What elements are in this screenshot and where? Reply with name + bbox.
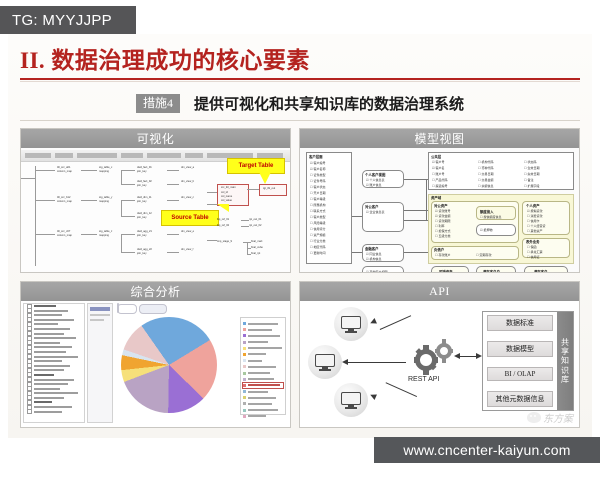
panel-analysis-header: 综合分析	[21, 282, 290, 301]
subtitle-row: 措施4 提供可视化和共享知识库的数据治理系统	[20, 88, 580, 118]
panel-model-view-body: 客户层面 ☑ 客户编号 ☑ 客户名称 ☐ 证件类型 ☐ 证件号码 ☐ 客户状态 …	[300, 148, 579, 272]
rest-api-label: REST API	[408, 376, 439, 383]
api-diagram: REST API 数据标准 数据模型 BI / OLAP 其他元数据信息	[300, 301, 579, 427]
client-node-bottom	[334, 383, 368, 417]
kb-item-data-model[interactable]: 数据模型	[487, 341, 553, 357]
panel-visualization-header: 可视化	[21, 129, 290, 148]
lineage-diagram: tbl_src_a01 column_map tbl_src_b12 colum…	[21, 148, 290, 272]
panel-grid: 可视化	[20, 128, 580, 428]
monitor-icon	[341, 316, 361, 332]
kb-item-bi-olap[interactable]: BI / OLAP	[487, 367, 553, 381]
subtitle-divider	[20, 120, 580, 121]
panel-api: API	[299, 281, 580, 428]
page-title: II. 数据治理成功的核心要素	[20, 41, 310, 75]
panel-api-header: API	[300, 282, 579, 301]
field-list[interactable]	[23, 303, 85, 423]
callout-source-table: Source Table	[161, 210, 219, 226]
slide-root: TG: MYYJJPP II. 数据治理成功的核心要素 措施4 提供可视化和共享…	[0, 0, 600, 480]
knowledge-base-items: 数据标准 数据模型 BI / OLAP 其他元数据信息	[483, 312, 557, 410]
panel-analysis-body	[21, 301, 290, 427]
chart-toolbar[interactable]	[117, 303, 287, 315]
measure-badge: 措施4	[136, 94, 180, 113]
monitor-icon	[341, 392, 361, 408]
client-node-middle	[308, 345, 342, 379]
callout-target-table-label: Target Table	[239, 163, 274, 169]
gears-icon	[406, 337, 458, 375]
wechat-icon	[527, 412, 541, 423]
callout-target-table: Target Table	[227, 158, 285, 174]
target-table-node	[259, 184, 287, 196]
panel-api-body: REST API 数据标准 数据模型 BI / OLAP 其他元数据信息	[300, 301, 579, 427]
field-properties-panel[interactable]	[87, 303, 113, 423]
panel-visualization-body: tbl_src_a01 column_map tbl_src_b12 colum…	[21, 148, 290, 272]
client-node-top	[334, 307, 368, 341]
tg-tag: TG: MYYJJPP	[0, 6, 136, 34]
shared-knowledge-base: 数据标准 数据模型 BI / OLAP 其他元数据信息 共享知识库	[482, 311, 574, 411]
kb-item-data-standard[interactable]: 数据标准	[487, 315, 553, 331]
wechat-watermark-text: 东方案	[543, 410, 573, 425]
subtitle-text: 提供可视化和共享知识库的数据治理系统	[194, 93, 464, 114]
title-divider	[20, 78, 580, 80]
panel-visualization: 可视化	[20, 128, 291, 273]
wechat-watermark: 东方案	[527, 410, 573, 425]
site-watermark: www.cncenter-kaiyun.com	[374, 437, 600, 463]
title-divider-secondary	[20, 81, 580, 82]
panel-analysis: 综合分析	[20, 281, 291, 428]
knowledge-base-side-label: 共享知识库	[557, 312, 573, 410]
slide-body: II. 数据治理成功的核心要素 措施4 提供可视化和共享知识库的数据治理系统 可…	[8, 34, 592, 438]
panel-model-view: 模型视图 客户层面 ☑ 客户编号 ☑ 客户名称 ☐ 证件类型 ☐ 证件号码 ☐ …	[299, 128, 580, 273]
analysis-dashboard	[21, 301, 290, 427]
monitor-icon	[315, 354, 335, 370]
pie-chart	[121, 317, 217, 413]
model-diagram: 客户层面 ☑ 客户编号 ☑ 客户名称 ☐ 证件类型 ☐ 证件号码 ☐ 客户状态 …	[300, 148, 579, 272]
panel-model-view-header: 模型视图	[300, 129, 579, 148]
page-title-row: II. 数据治理成功的核心要素	[20, 40, 580, 76]
callout-source-table-label: Source Table	[171, 215, 208, 221]
pie-slices	[121, 317, 217, 413]
chart-legend[interactable]	[240, 317, 286, 415]
kb-item-other-metadata[interactable]: 其他元数据信息	[487, 391, 553, 407]
